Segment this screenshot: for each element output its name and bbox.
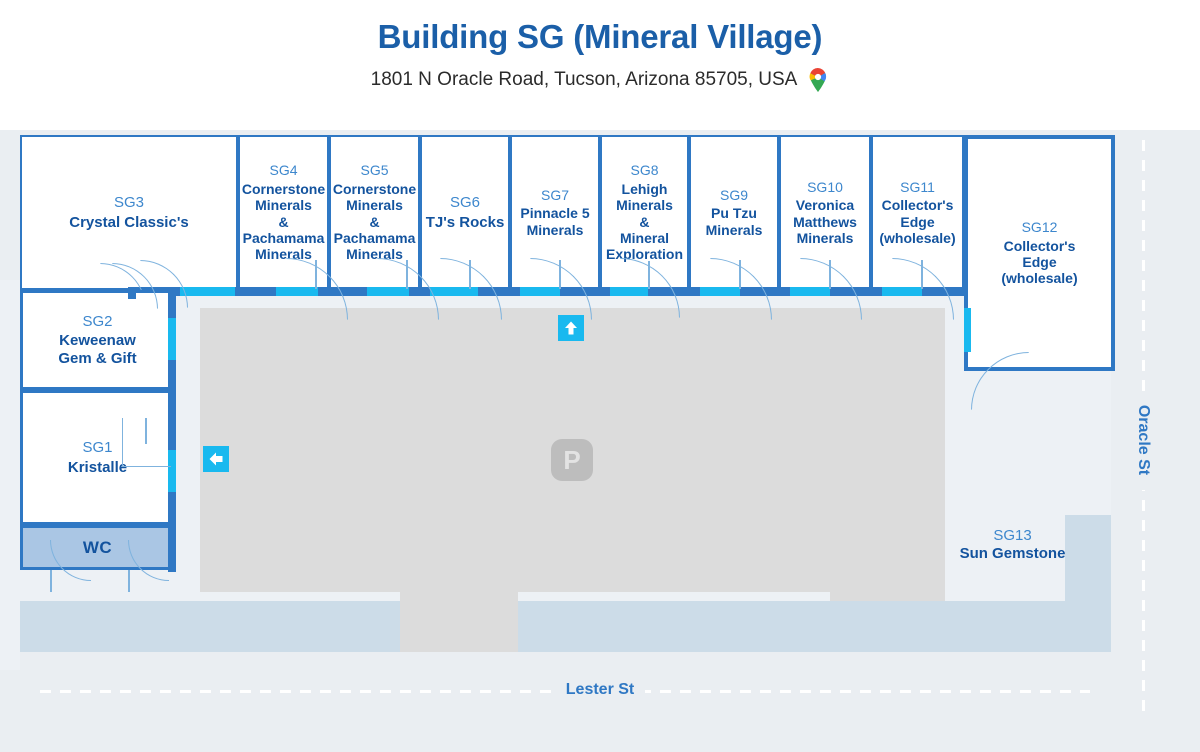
page-title: Building SG (Mineral Village) [0, 0, 1200, 56]
door-leaf-wc-left [50, 570, 52, 592]
google-maps-pin-icon[interactable] [807, 67, 829, 93]
unit-code: SG7 [541, 187, 569, 203]
street-label-oracle-top: Oracle St [1134, 400, 1152, 480]
address-text: 1801 N Oracle Road, Tucson, Arizona 8570… [371, 69, 798, 91]
unit-code: SG13 [993, 527, 1031, 545]
unit-tenant: Collector's Edge (wholesale) [879, 197, 955, 246]
parking-lot-south-strip [200, 570, 520, 592]
unit-tenant: TJ's Rocks [426, 214, 505, 232]
unit-sg13[interactable]: SG13 Sun Gemstone [945, 515, 1080, 575]
address-row: 1801 N Oracle Road, Tucson, Arizona 8570… [0, 67, 1200, 93]
door-leaf-sg8 [648, 261, 650, 289]
unit-tenant: Cornerstone Minerals & Pachamama Mineral… [242, 181, 325, 263]
unit-tenant: Veronica Matthews Minerals [793, 197, 857, 246]
unit-code: SG8 [630, 162, 658, 178]
unit-tenant: Collector's Edge (wholesale) [1001, 238, 1077, 287]
unit-tenant: Pinnacle 5 Minerals [520, 205, 589, 238]
unit-code: SG5 [360, 162, 388, 178]
unit-tenant: Lehigh Minerals & Mineral Exploration [606, 181, 683, 263]
unit-tenant: Pu Tzu Minerals [706, 205, 763, 238]
doorway-sg12[interactable] [964, 308, 971, 352]
doorway-sg2[interactable] [168, 318, 176, 360]
door-leaf-sg9 [739, 260, 741, 289]
unit-sg12[interactable]: SG12 Collector's Edge (wholesale) [964, 135, 1115, 371]
sidewalk-band-east [518, 601, 1111, 652]
oracle-street-area [1111, 130, 1200, 730]
door-leaf-sg4 [315, 260, 317, 289]
entrance-arrow-left[interactable] [203, 446, 229, 472]
unit-tenant: Sun Gemstone [960, 545, 1066, 563]
street-label-lester: Lester St [555, 681, 645, 699]
unit-code: SG9 [720, 187, 748, 203]
unit-code: SG1 [82, 439, 112, 457]
unit-code: SG11 [900, 179, 935, 195]
door-leaf-sg1 [145, 418, 147, 444]
sidewalk-band-west [20, 601, 400, 652]
doorway-sg3[interactable] [180, 287, 235, 296]
unit-code: SG10 [807, 179, 843, 195]
unit-code: SG4 [269, 162, 297, 178]
door-leaf-sg10 [829, 260, 831, 289]
floor-plan-canvas: SG3 Crystal Classic's SG4 Cornerstone Mi… [0, 130, 1200, 752]
parking-icon: P [551, 439, 593, 481]
arrow-up-icon [563, 320, 579, 336]
parking-lot-south-strip-east [518, 570, 945, 592]
unit-code: SG3 [114, 194, 144, 212]
arrow-left-icon [208, 451, 224, 467]
parking-label: P [563, 445, 580, 476]
door-leaf-sg5 [406, 260, 408, 289]
floor-plan-page: Building SG (Mineral Village) 1801 N Ora… [0, 0, 1200, 752]
unit-tenant: Cornerstone Minerals & Pachamama Mineral… [333, 181, 416, 263]
unit-code: SG6 [450, 194, 480, 212]
unit-tenant: Crystal Classic's [69, 214, 188, 232]
entrance-arrow-up[interactable] [558, 315, 584, 341]
unit-code: SG2 [82, 313, 112, 331]
unit-tenant: Kristalle [68, 459, 127, 477]
west-wing-connector-wall [128, 287, 136, 299]
door-leaf-sg11 [921, 260, 923, 289]
door-leaf-wc-right [128, 570, 130, 592]
unit-tenant: Keweenaw Gem & Gift [58, 332, 136, 367]
door-leaf-sg6 [469, 260, 471, 289]
map-header: Building SG (Mineral Village) 1801 N Ora… [0, 0, 1200, 130]
door-leaf-sg7 [559, 260, 561, 289]
unit-code: SG12 [1022, 219, 1058, 235]
